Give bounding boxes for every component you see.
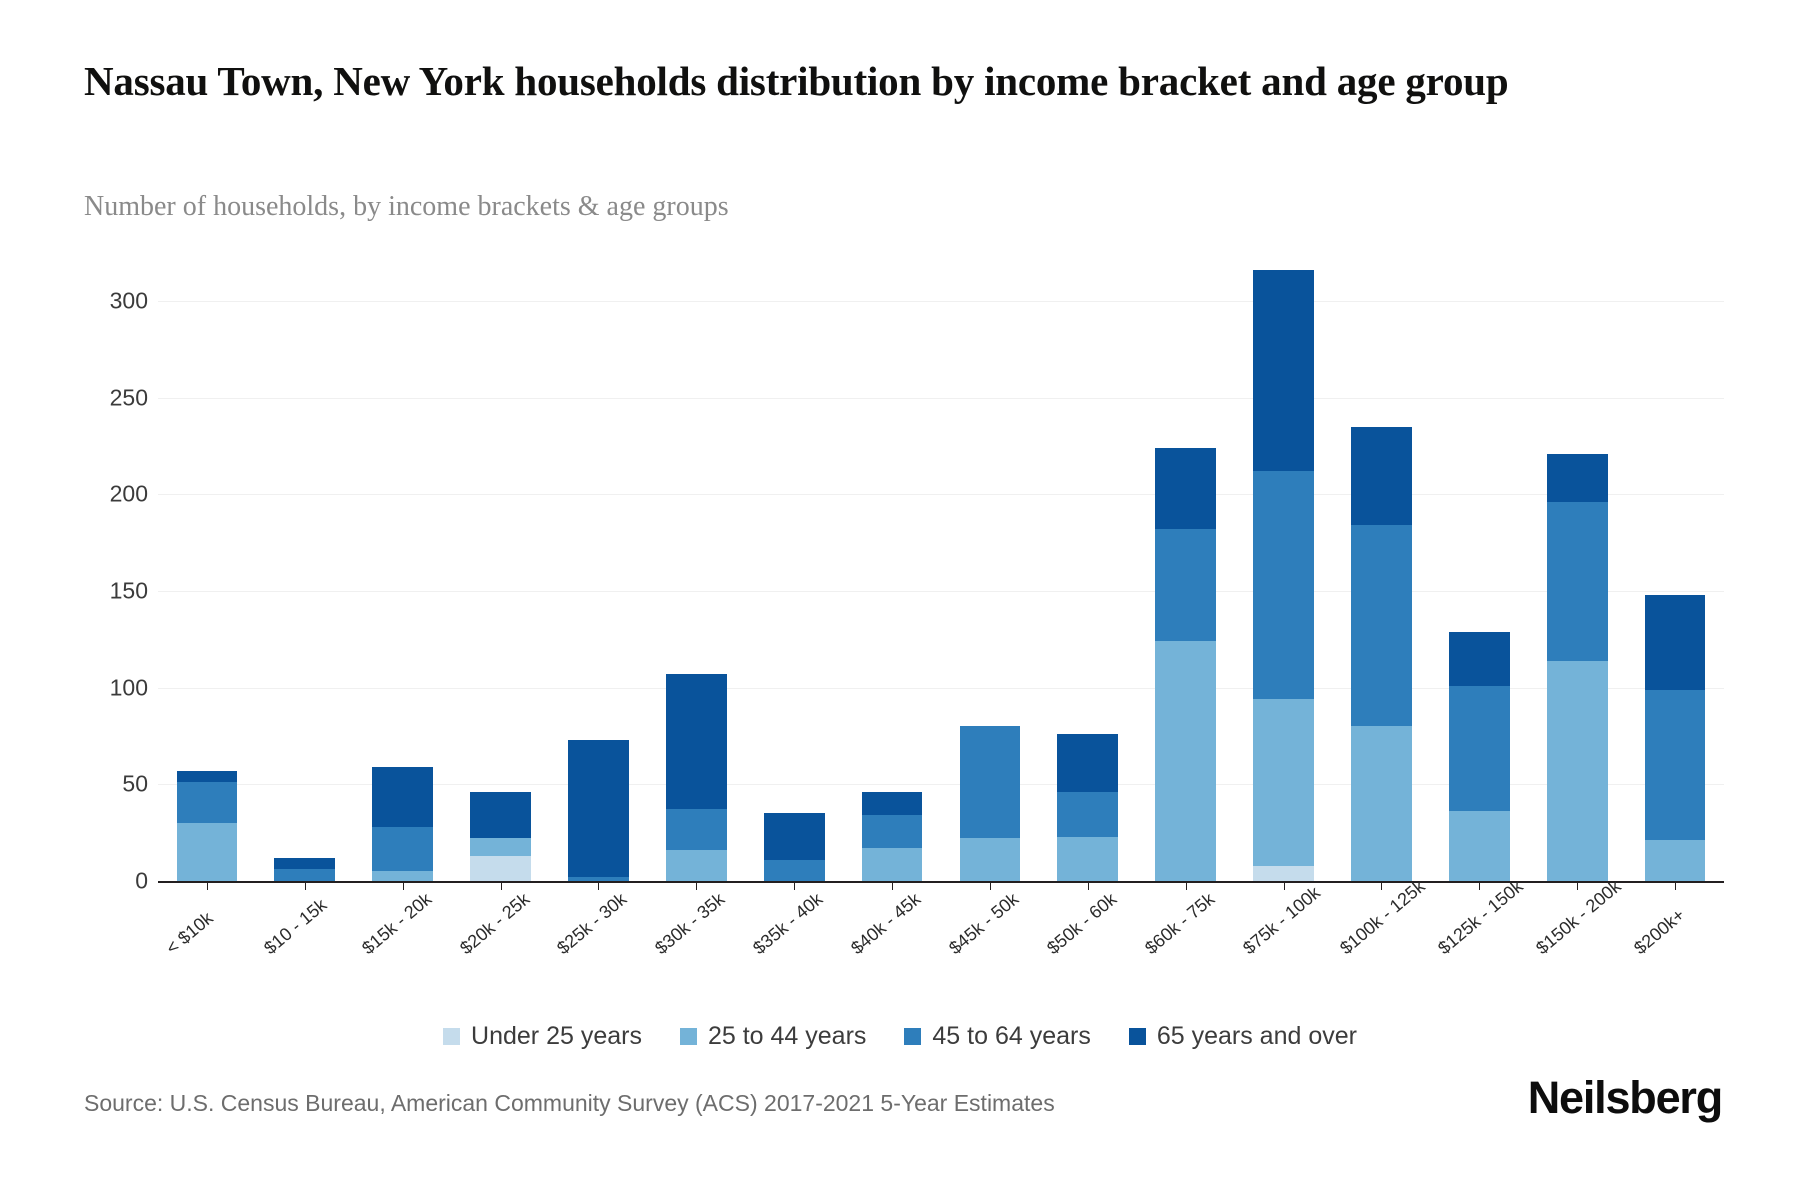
legend-swatch-icon xyxy=(443,1028,460,1045)
bar-segment[interactable] xyxy=(372,827,433,871)
stacked-bar[interactable] xyxy=(1645,595,1706,881)
y-axis-tick-label: 100 xyxy=(110,674,148,701)
x-label-slot: $60k - 75k xyxy=(1137,892,1235,1012)
y-axis: 050100150200250300 xyxy=(84,270,158,882)
chart-page: Nassau Town, New York households distrib… xyxy=(0,0,1800,1200)
source-note: Source: U.S. Census Bureau, American Com… xyxy=(84,1090,1055,1117)
stacked-bar[interactable] xyxy=(1449,632,1510,881)
stacked-bar[interactable] xyxy=(568,740,629,881)
bar-slot[interactable] xyxy=(1039,270,1137,881)
x-axis-labels: < $10k$10 - 15k$15k - 20k$20k - 25k$25k … xyxy=(158,892,1724,1012)
legend-item[interactable]: Under 25 years xyxy=(443,1022,642,1051)
bar-segment[interactable] xyxy=(1645,595,1706,690)
x-label-slot: $15k - 20k xyxy=(354,892,452,1012)
bar-segment[interactable] xyxy=(1253,270,1314,471)
x-axis-tick-label: < $10k xyxy=(162,908,217,959)
bar-segment[interactable] xyxy=(274,869,335,881)
bar-segment[interactable] xyxy=(177,782,238,823)
x-label-slot: $100k - 125k xyxy=(1333,892,1431,1012)
x-label-slot: $45k - 50k xyxy=(941,892,1039,1012)
bar-slot[interactable] xyxy=(256,270,354,881)
brand-logo: Neilsberg xyxy=(1528,1072,1722,1124)
stacked-bar[interactable] xyxy=(1253,270,1314,881)
legend-swatch-icon xyxy=(1129,1028,1146,1045)
bar-slot[interactable] xyxy=(1333,270,1431,881)
stacked-bar[interactable] xyxy=(1547,454,1608,881)
stacked-bar[interactable] xyxy=(470,792,531,881)
bar-slot[interactable] xyxy=(745,270,843,881)
bar-segment[interactable] xyxy=(177,771,238,783)
legend-label: Under 25 years xyxy=(471,1022,642,1051)
y-axis-tick-label: 150 xyxy=(110,577,148,604)
x-label-slot: $150k - 200k xyxy=(1528,892,1626,1012)
x-axis-tick-label: $60k - 75k xyxy=(1141,889,1219,959)
bar-segment[interactable] xyxy=(1155,529,1216,641)
bar-segment[interactable] xyxy=(666,850,727,881)
x-axis-line xyxy=(158,881,1724,883)
x-label-slot: $30k - 35k xyxy=(647,892,745,1012)
bar-segment[interactable] xyxy=(862,848,923,881)
stacked-bar[interactable] xyxy=(1155,448,1216,881)
bar-segment[interactable] xyxy=(960,838,1021,881)
bar-segment[interactable] xyxy=(1547,454,1608,502)
stacked-bar[interactable] xyxy=(764,813,825,881)
bar-segment[interactable] xyxy=(1253,866,1314,881)
x-label-slot: $35k - 40k xyxy=(745,892,843,1012)
bar-segment[interactable] xyxy=(1547,661,1608,881)
bar-slot[interactable] xyxy=(1235,270,1333,881)
bar-slot[interactable] xyxy=(354,270,452,881)
stacked-bar[interactable] xyxy=(372,767,433,881)
stacked-bar[interactable] xyxy=(274,858,335,881)
bar-slot[interactable] xyxy=(647,270,745,881)
stacked-bar[interactable] xyxy=(1351,427,1412,881)
x-label-slot: $40k - 45k xyxy=(843,892,941,1012)
bar-segment[interactable] xyxy=(568,740,629,877)
bar-segment[interactable] xyxy=(1057,734,1118,792)
x-label-slot: $20k - 25k xyxy=(452,892,550,1012)
bar-segment[interactable] xyxy=(1351,427,1412,526)
bar-segment[interactable] xyxy=(1449,686,1510,812)
bar-segment[interactable] xyxy=(764,813,825,859)
bar-slot[interactable] xyxy=(1137,270,1235,881)
legend-item[interactable]: 25 to 44 years xyxy=(680,1022,866,1051)
bar-segment[interactable] xyxy=(862,815,923,848)
bar-segment[interactable] xyxy=(764,860,825,881)
stacked-bar[interactable] xyxy=(862,792,923,881)
x-axis-tick-label: $50k - 60k xyxy=(1043,889,1121,959)
x-axis-tick-label: $75k - 100k xyxy=(1239,882,1325,959)
bar-segment[interactable] xyxy=(1645,690,1706,841)
bar-segment[interactable] xyxy=(1449,632,1510,686)
bar-segment[interactable] xyxy=(274,858,335,870)
stacked-bar[interactable] xyxy=(1057,734,1118,881)
legend-item[interactable]: 65 years and over xyxy=(1129,1022,1357,1051)
y-axis-tick-label: 250 xyxy=(110,384,148,411)
x-label-slot: $25k - 30k xyxy=(550,892,648,1012)
legend-label: 45 to 64 years xyxy=(932,1022,1090,1051)
bar-slot[interactable] xyxy=(941,270,1039,881)
x-axis-tick-label: $30k - 35k xyxy=(651,889,729,959)
bar-slot[interactable] xyxy=(158,270,256,881)
x-label-slot: $200k+ xyxy=(1626,892,1724,1012)
bar-slot[interactable] xyxy=(550,270,648,881)
bar-segment[interactable] xyxy=(1253,699,1314,865)
bar-segment[interactable] xyxy=(1057,837,1118,881)
bar-segment[interactable] xyxy=(470,838,531,855)
x-axis-tick-label: $15k - 20k xyxy=(358,889,436,959)
bar-segment[interactable] xyxy=(1057,792,1118,836)
bar-segment[interactable] xyxy=(1253,471,1314,699)
bar-segment[interactable] xyxy=(1351,726,1412,881)
bar-segment[interactable] xyxy=(372,767,433,827)
bar-segment[interactable] xyxy=(1155,448,1216,529)
x-axis-tick-label: $20k - 25k xyxy=(456,889,534,959)
stacked-bar[interactable] xyxy=(177,771,238,881)
legend-swatch-icon xyxy=(904,1028,921,1045)
x-axis-tick-label: $35k - 40k xyxy=(749,889,827,959)
bar-segment[interactable] xyxy=(1449,811,1510,881)
bar-segment[interactable] xyxy=(372,871,433,881)
x-label-slot: $125k - 150k xyxy=(1430,892,1528,1012)
x-axis-tick-label: $25k - 30k xyxy=(554,889,632,959)
x-label-slot: $10 - 15k xyxy=(256,892,354,1012)
bar-slot[interactable] xyxy=(1430,270,1528,881)
bar-segment[interactable] xyxy=(666,674,727,809)
bar-slot[interactable] xyxy=(1626,270,1724,881)
bar-slot[interactable] xyxy=(452,270,550,881)
x-label-slot: $75k - 100k xyxy=(1235,892,1333,1012)
bar-segment[interactable] xyxy=(470,792,531,838)
bar-segment[interactable] xyxy=(1351,525,1412,726)
bar-slot[interactable] xyxy=(1528,270,1626,881)
bar-segment[interactable] xyxy=(177,823,238,881)
stacked-bar[interactable] xyxy=(666,674,727,881)
bar-series-group xyxy=(158,270,1724,881)
x-label-slot: < $10k xyxy=(158,892,256,1012)
chart-plot-area: 050100150200250300 xyxy=(84,270,1724,910)
bar-segment[interactable] xyxy=(666,809,727,850)
bar-slot[interactable] xyxy=(843,270,941,881)
legend-swatch-icon xyxy=(680,1028,697,1045)
bar-segment[interactable] xyxy=(960,726,1021,838)
bar-segment[interactable] xyxy=(1547,502,1608,661)
bar-segment[interactable] xyxy=(1155,641,1216,881)
x-axis-tick-label: $45k - 50k xyxy=(945,889,1023,959)
page-subtitle: Number of households, by income brackets… xyxy=(84,190,1484,224)
chart-legend: Under 25 years25 to 44 years45 to 64 yea… xyxy=(0,1022,1800,1051)
x-axis-tick-label: $200k+ xyxy=(1630,905,1689,959)
y-axis-tick-label: 0 xyxy=(135,868,148,895)
bar-segment[interactable] xyxy=(470,856,531,881)
bar-segment[interactable] xyxy=(1645,840,1706,881)
legend-item[interactable]: 45 to 64 years xyxy=(904,1022,1090,1051)
y-axis-tick-label: 300 xyxy=(110,287,148,314)
page-title: Nassau Town, New York households distrib… xyxy=(84,58,1684,106)
legend-label: 25 to 44 years xyxy=(708,1022,866,1051)
x-axis-tick-label: $10 - 15k xyxy=(260,895,331,959)
x-label-slot: $50k - 60k xyxy=(1039,892,1137,1012)
stacked-bar[interactable] xyxy=(960,726,1021,881)
y-axis-tick-label: 200 xyxy=(110,481,148,508)
bar-segment[interactable] xyxy=(862,792,923,815)
legend-label: 65 years and over xyxy=(1157,1022,1357,1051)
y-axis-tick-label: 50 xyxy=(122,771,148,798)
x-axis-tick-label: $40k - 45k xyxy=(847,889,925,959)
